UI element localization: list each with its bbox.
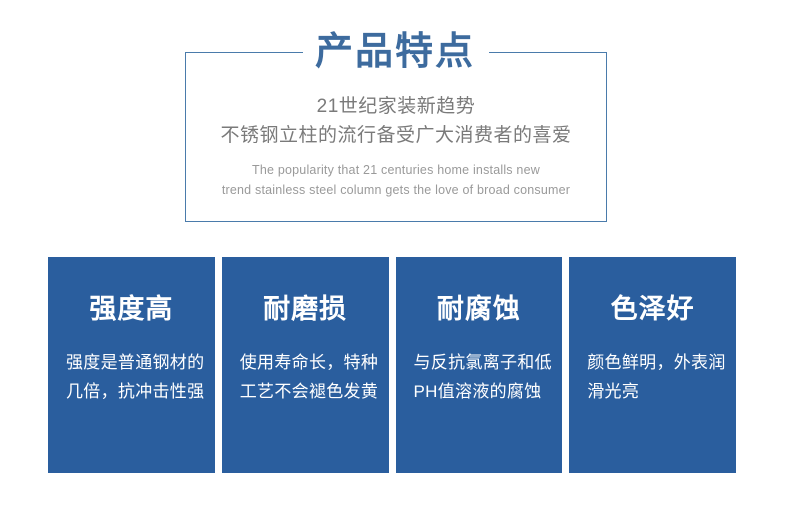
feature-card-body: 使用寿命长，特种工艺不会褪色发黄 [240,348,379,406]
feature-card-body: 强度是普通钢材的几倍，抗冲击性强 [66,348,205,406]
feature-card-strength: 强度高 强度是普通钢材的几倍，抗冲击性强 [48,257,215,473]
subtitle-en-line-2: trend stainless steel column gets the lo… [195,180,597,200]
feature-cards-row: 强度高 强度是普通钢材的几倍，抗冲击性强 耐磨损 使用寿命长，特种工艺不会褪色发… [48,257,736,473]
feature-card-heading: 耐磨损 [222,292,389,326]
subtitle-cn-line-2: 不锈钢立柱的流行备受广大消费者的喜爱 [195,121,597,150]
feature-card-body: 与反抗氯离子和低PH值溶液的腐蚀 [414,348,553,406]
subtitle-group: 21世纪家装新趋势 不锈钢立柱的流行备受广大消费者的喜爱 The popular… [195,92,597,200]
feature-card-corrosion-resistance: 耐腐蚀 与反抗氯离子和低PH值溶液的腐蚀 [396,257,563,473]
subtitle-en-group: The popularity that 21 centuries home in… [195,160,597,200]
page-title: 产品特点 [0,28,790,76]
header-section: 产品特点 21世纪家装新趋势 不锈钢立柱的流行备受广大消费者的喜爱 The po… [0,0,790,240]
feature-card-wear-resistance: 耐磨损 使用寿命长，特种工艺不会褪色发黄 [222,257,389,473]
feature-card-heading: 色泽好 [569,292,736,326]
subtitle-cn-line-1: 21世纪家装新趋势 [195,92,597,121]
subtitle-en-line-1: The popularity that 21 centuries home in… [195,160,597,180]
feature-card-heading: 耐腐蚀 [396,292,563,326]
feature-card-color-quality: 色泽好 颜色鲜明，外表润滑光亮 [569,257,736,473]
feature-card-body: 颜色鲜明，外表润滑光亮 [587,348,726,406]
feature-card-heading: 强度高 [48,292,215,326]
